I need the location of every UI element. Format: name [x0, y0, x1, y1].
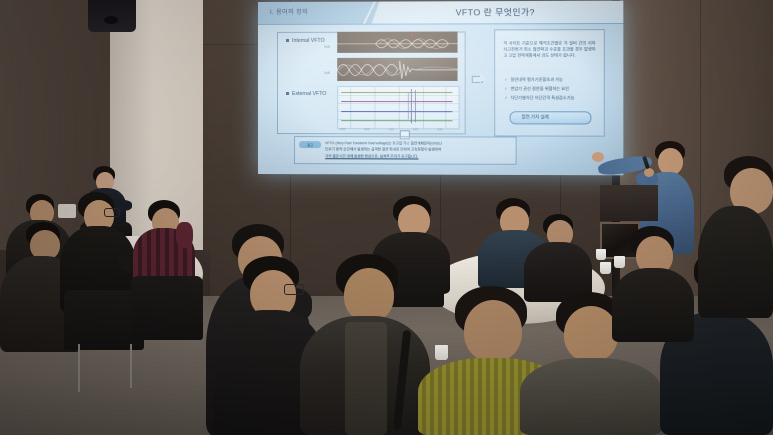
bullet-external-vfto: External VFTO: [286, 91, 326, 97]
chart-trace-phase-a: [341, 92, 452, 93]
check-icon: ✓: [504, 77, 508, 82]
bullet-external-vfto-label: External VFTO: [292, 91, 326, 97]
cup: [614, 256, 625, 268]
chart-xtick: 0.15: [413, 128, 418, 131]
note-line-2: 단로기 동작 순간에서 발생하는 급격한 절연 파괴로 인하여 고속파형이 발생…: [325, 147, 441, 152]
chart-xtick: 0.20: [437, 128, 442, 131]
note-line-3: 극히 짧은시간 내에 발생한 현상으로, 설계적 주의가 요구됩니다.: [325, 154, 418, 159]
header-underline: [258, 23, 623, 25]
right-arrow-icon: [472, 72, 488, 86]
check-icon: ✓: [504, 86, 508, 91]
presenter-hand: [592, 152, 604, 162]
chart-trace-ground: [341, 120, 452, 121]
puffer-vest-panel: [345, 322, 387, 435]
presenter-mic-hand: [644, 168, 654, 177]
slide-title: VFTO 란 무엇인가?: [414, 5, 577, 18]
slide-canvas: I. 용어의 정의 VFTO 란 무엇인가? Internal VFTO Ext…: [258, 1, 623, 176]
speaker-cone-icon: [104, 16, 118, 24]
cup: [600, 262, 611, 274]
chart-transient-spike: [408, 93, 409, 119]
bullet-internal-vfto: Internal VFTO: [286, 38, 325, 44]
chair: [131, 276, 203, 340]
slide-summary-panel: 각 사이트 기준으로 해석조건별로 각 설비 간의 지락사고전류가 최소 절연파…: [494, 29, 605, 137]
chart-transient-spike: [411, 89, 412, 123]
chart-transient-spike: [415, 90, 416, 122]
projection-screen: I. 용어의 정의 VFTO 란 무엇인가? Internal VFTO Ext…: [258, 1, 623, 176]
summary-check-1: ✓절연내력 평가기준을초과 가능: [504, 77, 562, 83]
waveform-axis-label-1: Volt: [324, 45, 330, 49]
bullet-marker-icon: [286, 39, 289, 42]
podium: [600, 185, 658, 221]
summary-paragraph: 각 사이트 기준으로 해석조건별로 각 설비 간의 지락사고전류가 최소 절연파…: [503, 40, 595, 59]
waveform-svg-1: [337, 32, 457, 53]
bullet-marker-icon: [286, 92, 289, 95]
chart-trace-phase-c: [341, 111, 452, 112]
slide-header-label: I. 용어의 정의: [270, 7, 308, 16]
note-tag-label: 참고: [299, 142, 321, 147]
chart-trace-phase-b: [341, 101, 452, 102]
cup: [435, 345, 448, 360]
bullet-internal-vfto-label: Internal VFTO: [292, 38, 325, 44]
waveform-axis-label-2: Volt: [324, 71, 330, 75]
waveform-svg-2: [337, 58, 457, 81]
external-vfto-chart: [337, 86, 459, 129]
eyeglasses-icon: [104, 208, 120, 217]
chart-xtick: 0.00: [340, 128, 345, 131]
waveform-panel-internal: [337, 32, 457, 53]
chart-xtick: 0.10: [389, 128, 394, 131]
summary-check-3: ✓차단기별차단 차단간격 특성감소가능: [504, 95, 574, 101]
slide-note-box: 참고 VFTO (Very Fast Transient Overvoltage…: [294, 136, 517, 165]
check-icon: ✓: [504, 95, 508, 100]
summary-check-2: ✓변압기 권선 절연을 위협하는 요인: [504, 86, 569, 92]
note-line-1: VFTO (Very Fast Transient Overvoltage)는 …: [325, 141, 442, 146]
waveform-panel-detail: [337, 58, 457, 81]
eyeglasses-icon: [284, 284, 304, 295]
cup: [596, 249, 606, 260]
conference-photo-scene: I. 용어의 정의 VFTO 란 무엇인가? Internal VFTO Ext…: [0, 0, 773, 435]
laptop-screen: [58, 204, 76, 218]
chart-xtick: 0.05: [364, 128, 369, 131]
summary-callout-label: 절연 가치 설계: [495, 114, 575, 120]
